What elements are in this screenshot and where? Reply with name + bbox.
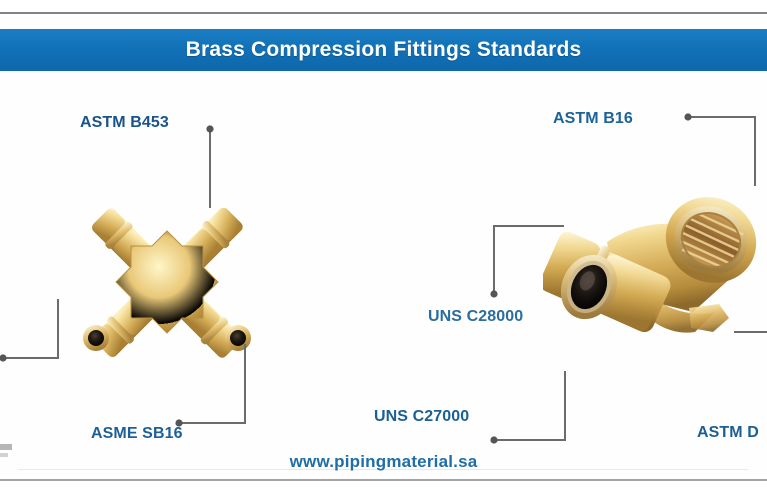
- site-url[interactable]: www.pipingmaterial.sa: [0, 452, 767, 472]
- leader-dot-uns-c28000: [490, 290, 497, 297]
- infographic-canvas: Brass Compression Fittings Standards: [0, 0, 767, 500]
- logo-underline-1: [0, 444, 12, 450]
- label-asme-sb16: ASME SB16: [91, 425, 183, 443]
- leader-dots: [0, 113, 692, 443]
- leader-asme-sb16: [179, 345, 245, 423]
- label-uns-c27000: UNS C27000: [374, 408, 469, 426]
- label-uns-c28000: UNS C28000: [428, 308, 523, 326]
- leader-dot-astm-b453: [206, 125, 213, 132]
- label-astm-b16: ASTM B16: [553, 110, 633, 128]
- bottom-divider: [0, 479, 767, 481]
- label-astm-b453: ASTM B453: [80, 114, 169, 132]
- leader-left-edge-partial: [3, 300, 58, 358]
- leader-uns-c28000: [494, 226, 563, 294]
- label-astm-d: ASTM D: [697, 424, 759, 442]
- leader-astm-b16: [688, 117, 755, 185]
- leader-dot-left-edge: [0, 354, 7, 361]
- leader-dot-astm-b16: [684, 113, 691, 120]
- leader-dot-uns-c27000: [490, 436, 497, 443]
- leader-uns-c27000: [494, 372, 565, 440]
